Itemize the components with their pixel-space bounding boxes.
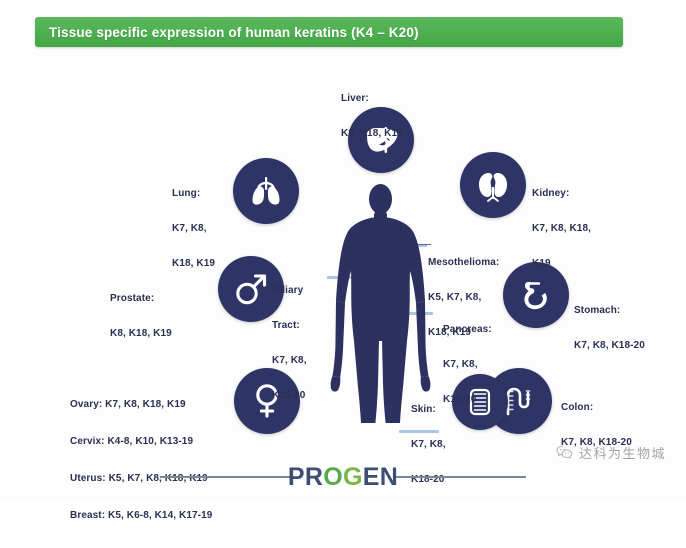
logo-rule-right [396,476,526,478]
label-stomach-heading: Stomach: [574,305,645,317]
label-biliary-line-2: K7, K8, [272,355,307,367]
label-skin-line-1: K7, K8, [411,439,446,451]
logo-part-en: EN [363,465,398,490]
label-prostate-line-1: K8, K18, K19 [110,328,172,340]
label-kidney-line-2: K19 [532,258,591,270]
label-pancreas-line-1: K7, K8, [443,359,492,371]
label-lung-line-1: K7, K8, [172,223,215,235]
label-biliary-line-1: Tract: [272,320,307,332]
label-lung-line-2: K18, K19 [172,258,215,270]
label-liver-line-1: K8, K18, K19 [341,128,403,140]
progen-logo: PR O G EN [0,462,686,492]
label-kidney: Kidney: K7, K8, K18, K19 [532,165,591,293]
watermark-text: 达科为生物城 [579,443,666,462]
label-skin-heading: Skin: [411,404,446,416]
label-stomach: Stomach: K7, K8, K18-20 [574,282,645,375]
logo-part-o: O [323,465,343,490]
label-liver-heading: Liver: [341,93,403,105]
logo-rule-left [160,476,290,478]
logo-wordmark: PR O G EN [288,465,398,490]
label-female-organs: Ovary: K7, K8, K18, K19 Cervix: K4-8, K1… [70,374,212,548]
page-title: Tissue specific expression of human kera… [35,25,419,40]
label-biliary-heading: Biliary [272,285,307,297]
label-mesothelioma-heading: Mesothelioma: [428,257,499,269]
lungs-icon [246,171,286,211]
label-pancreas: Pancreas: K7, K8, K18-20 [443,301,492,429]
label-lung: Lung: K7, K8, K18, K19 [172,165,215,293]
slide-canvas: Tissue specific expression of human kera… [0,0,686,501]
logo-part-g: G [343,465,363,490]
label-colon-heading: Colon: [561,402,632,414]
slide-title-banner: Tissue specific expression of human kera… [35,17,623,47]
wechat-icon [556,445,573,460]
label-prostate-heading: Prostate: [110,293,172,305]
logo-part-pr: PR [288,465,323,490]
male-symbol-icon [230,268,272,310]
label-cervix: Cervix: K4-8, K10, K13-19 [70,436,212,448]
kidney-icon [473,165,513,205]
label-pancreas-line-2: K18-20 [443,394,492,406]
watermark: 达科为生物城 [556,443,666,462]
label-prostate: Prostate: K8, K18, K19 [110,270,172,363]
label-biliary-line-3: K18-20 [272,390,307,402]
label-pancreas-heading: Pancreas: [443,324,492,336]
label-kidney-heading: Kidney: [532,188,591,200]
organ-circle-kidney[interactable] [460,152,526,218]
label-ovary: Ovary: K7, K8, K18, K19 [70,399,212,411]
organ-circle-lung[interactable] [233,158,299,224]
label-breast: Breast: K5, K6-8, K14, K17-19 [70,510,212,522]
label-stomach-line-1: K7, K8, K18-20 [574,340,645,352]
label-kidney-line-1: K7, K8, K18, [532,223,591,235]
label-biliary-tract: Biliary Tract: K7, K8, K18-20 [272,262,307,424]
label-liver: Liver: K8, K18, K19 [341,70,403,163]
label-lung-heading: Lung: [172,188,215,200]
